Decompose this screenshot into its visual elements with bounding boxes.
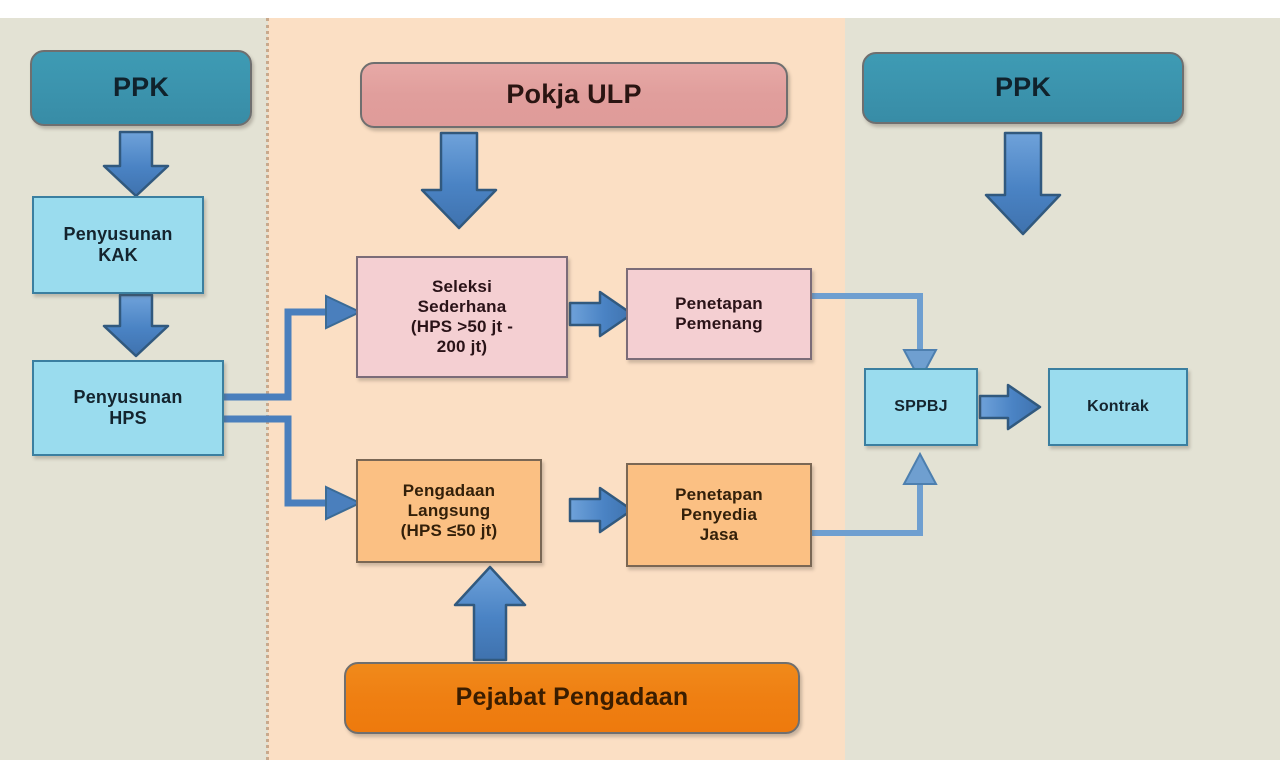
node-penetapan-pemenang[interactable]: Penetapan Pemenang bbox=[626, 268, 812, 360]
node-penetapan-penyedia-jasa[interactable]: Penetapan Penyedia Jasa bbox=[626, 463, 812, 567]
lane-header-pokja-ulp[interactable]: Pokja ULP bbox=[360, 62, 788, 128]
node-penyusunan-kak-label: Penyusunan KAK bbox=[34, 224, 202, 266]
lane-header-ppk-right[interactable]: PPK bbox=[862, 52, 1184, 124]
lane-header-ppk-right-label: PPK bbox=[864, 72, 1182, 104]
lane-header-ppk-left[interactable]: PPK bbox=[30, 50, 252, 126]
lane-header-ppk-left-label: PPK bbox=[32, 72, 250, 104]
node-penyusunan-kak[interactable]: Penyusunan KAK bbox=[32, 196, 204, 294]
node-seleksi-sederhana-label: Seleksi Sederhana (HPS >50 jt - 200 jt) bbox=[358, 277, 566, 357]
lane-header-pokja-ulp-label: Pokja ULP bbox=[362, 79, 786, 111]
node-kontrak[interactable]: Kontrak bbox=[1048, 368, 1188, 446]
node-pengadaan-langsung-label: Pengadaan Langsung (HPS ≤50 jt) bbox=[358, 481, 540, 541]
node-seleksi-sederhana[interactable]: Seleksi Sederhana (HPS >50 jt - 200 jt) bbox=[356, 256, 568, 378]
flowchart-canvas: PPK Pokja ULP PPK Penyusunan KAK Penyusu… bbox=[0, 0, 1280, 760]
node-pejabat-pengadaan-label: Pejabat Pengadaan bbox=[346, 683, 798, 713]
lane-background-pokja-ulp bbox=[268, 18, 845, 760]
node-penetapan-penyedia-jasa-label: Penetapan Penyedia Jasa bbox=[628, 485, 810, 545]
node-pejabat-pengadaan[interactable]: Pejabat Pengadaan bbox=[344, 662, 800, 734]
node-kontrak-label: Kontrak bbox=[1050, 398, 1186, 417]
lane-divider-dotted bbox=[266, 18, 269, 760]
node-penyusunan-hps[interactable]: Penyusunan HPS bbox=[32, 360, 224, 456]
node-penyusunan-hps-label: Penyusunan HPS bbox=[34, 387, 222, 429]
node-penetapan-pemenang-label: Penetapan Pemenang bbox=[628, 294, 810, 334]
node-sppbj-label: SPPBJ bbox=[866, 398, 976, 417]
node-pengadaan-langsung[interactable]: Pengadaan Langsung (HPS ≤50 jt) bbox=[356, 459, 542, 563]
node-sppbj[interactable]: SPPBJ bbox=[864, 368, 978, 446]
